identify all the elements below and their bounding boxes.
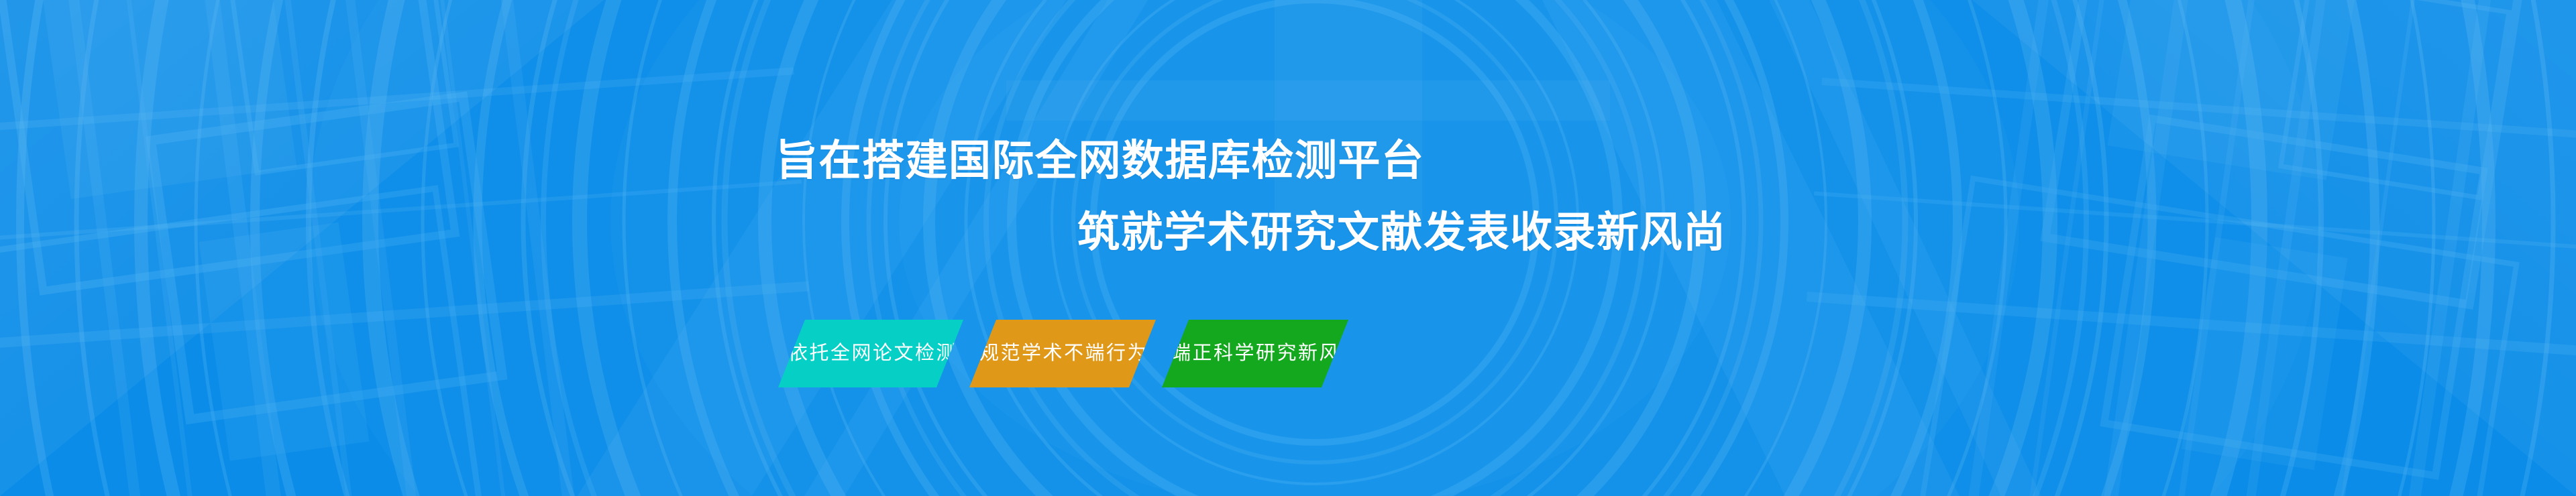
feature-badge-detection[interactable]: 依托全网论文检测: [778, 320, 963, 387]
headline-line-1: 旨在搭建国际全网数据库检测平台: [775, 140, 1425, 182]
headline-line-2: 筑就学术研究文献发表收录新风尚: [1077, 212, 1727, 254]
feature-badge-detection-label: 依托全网论文检测: [788, 344, 957, 363]
feature-badge-misconduct-label: 规范学术不端行为: [979, 344, 1148, 363]
feature-badge-integrity[interactable]: 端正科学研究新风: [1162, 320, 1348, 387]
feature-badge-integrity-label: 端正科学研究新风: [1171, 344, 1340, 363]
feature-badge-strip: 依托全网论文检测 规范学术不端行为 端正科学研究新风: [778, 320, 1348, 387]
feature-badge-misconduct[interactable]: 规范学术不端行为: [969, 320, 1156, 387]
headline-block: 旨在搭建国际全网数据库检测平台 筑就学术研究文献发表收录新风尚: [0, 0, 2576, 496]
promo-banner: 旨在搭建国际全网数据库检测平台 筑就学术研究文献发表收录新风尚 依托全网论文检测…: [0, 0, 2576, 496]
